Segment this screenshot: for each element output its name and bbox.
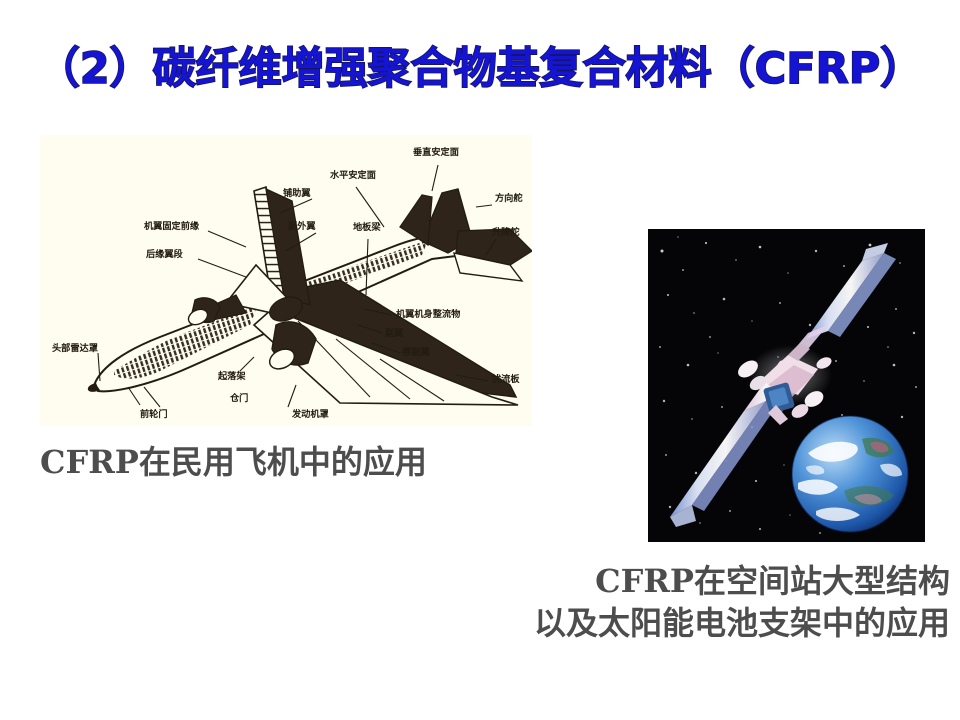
aircraft-label: 发动机罩 [291, 408, 329, 420]
aircraft-label: 前轮门 [140, 408, 168, 420]
aircraft-label: 仓门 [229, 392, 248, 404]
aircraft-label: 扰流板 [492, 373, 520, 385]
aircraft-label: 垂直安定面 [413, 146, 459, 158]
page-title: （2）碳纤维增强聚合物基复合材料（CFRP） [0, 46, 960, 93]
aircraft-label: 副翼 [385, 327, 404, 339]
aircraft-label: 地板梁 [353, 221, 381, 233]
aircraft-label: 起落架 [217, 370, 246, 382]
aircraft-label: 襟副翼 [402, 346, 430, 358]
satellite-photo-image [648, 229, 925, 542]
aircraft-diagram-svg: 机翼固定前缘 后缘翼段 铺助翼 副外翼 水平安定面 垂直安定面 方向舵 升降舵 … [40, 135, 532, 426]
slide-canvas: （2）碳纤维增强聚合物基复合材料（CFRP） [0, 0, 960, 720]
aircraft-label: 升降舵 [492, 226, 520, 238]
earth-globe [792, 416, 908, 532]
satellite-photo-svg [648, 229, 925, 542]
caption-satellite-line1: CFRP在空间站大型结构 [595, 562, 950, 600]
aircraft-label: 机翼机身整流物 [396, 308, 460, 320]
caption-aircraft-application: CFRP在民用飞机中的应用 [40, 437, 540, 483]
aircraft-label: 头部雷达罩 [52, 342, 98, 354]
aircraft-label: 机翼固定前缘 [144, 220, 200, 232]
aircraft-diagram-image: 机翼固定前缘 后缘翼段 铺助翼 副外翼 水平安定面 垂直安定面 方向舵 升降舵 … [40, 135, 532, 426]
aircraft-label: 铺助翼 [283, 187, 311, 199]
aircraft-label: 后缘翼段 [146, 248, 184, 260]
caption-satellite-application: CFRP在空间站大型结构 以及太阳能电池支架中的应用 [390, 560, 950, 644]
aircraft-label: 方向舵 [495, 192, 523, 204]
aircraft-label: 副外翼 [288, 220, 316, 232]
aircraft-label: 水平安定面 [330, 169, 376, 181]
caption-satellite-line2: 以及太阳能电池支架中的应用 [390, 602, 950, 644]
